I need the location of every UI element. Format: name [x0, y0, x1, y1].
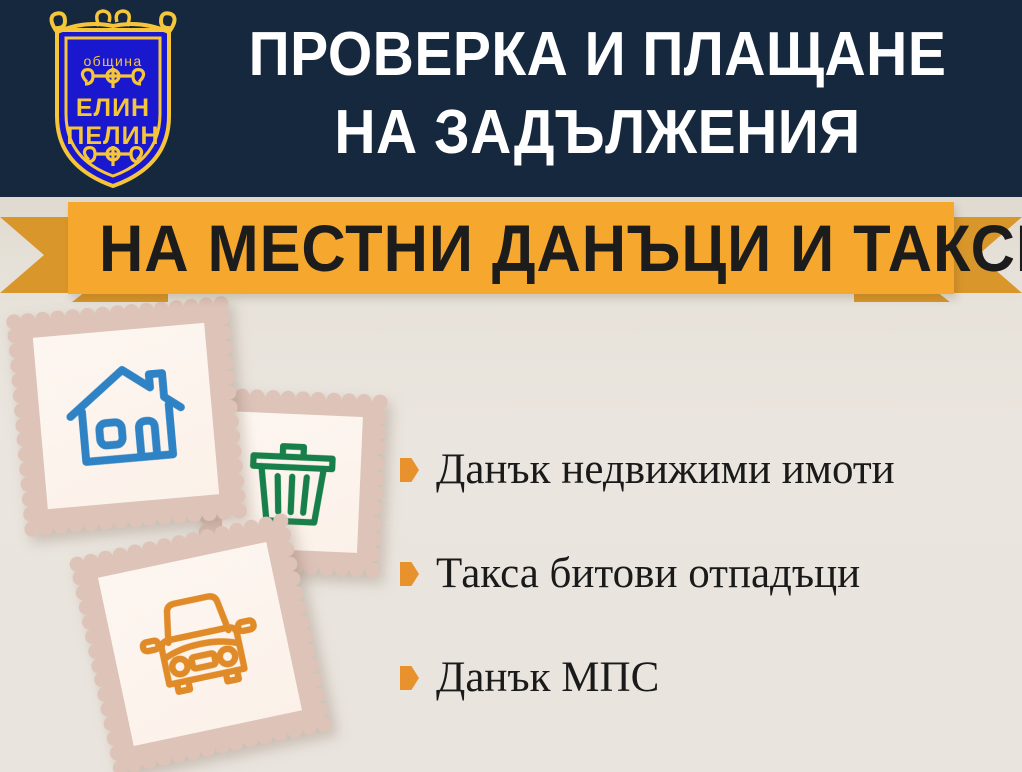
- header-bar: община ЕЛИН ПЕЛИН: [0, 0, 1022, 197]
- stamp-card-vehicle: [77, 521, 324, 768]
- coat-of-arms-shield-icon: община ЕЛИН ПЕЛИН: [33, 8, 193, 190]
- list-item[interactable]: Такса битови отпадъци: [400, 522, 1010, 626]
- poster-canvas: община ЕЛИН ПЕЛИН: [0, 0, 1022, 772]
- services-list: Данък недвижими имоти Такса битови отпад…: [400, 418, 1010, 730]
- stamp-card-property: [13, 303, 238, 528]
- ribbon-face: НА МЕСТНИ ДАНЪЦИ И ТАКСИ: [68, 202, 954, 294]
- title-line-1: ПРОВЕРКА И ПЛАЩАНЕ: [218, 16, 977, 94]
- trash-bin-icon: [238, 428, 346, 536]
- list-item-label: Данък недвижими имоти: [436, 446, 895, 494]
- arrow-bullet-icon: [400, 458, 419, 482]
- arrow-bullet-icon: [400, 666, 419, 690]
- list-item[interactable]: Данък недвижими имоти: [400, 418, 1010, 522]
- arrow-bullet-icon: [400, 562, 419, 586]
- list-item-label: Данък МПС: [436, 654, 659, 702]
- list-item[interactable]: Данък МПС: [400, 626, 1010, 730]
- house-icon: [54, 344, 197, 487]
- municipality-logo: община ЕЛИН ПЕЛИН: [33, 8, 193, 190]
- list-item-label: Такса битови отпадъци: [436, 550, 860, 598]
- ribbon-label: НА МЕСТНИ ДАНЪЦИ И ТАКСИ: [99, 202, 923, 294]
- page-title: ПРОВЕРКА И ПЛАЩАНЕ НА ЗАДЪЛЖЕНИЯ: [185, 16, 1010, 172]
- car-front-icon: [124, 568, 276, 720]
- title-line-2: НА ЗАДЪЛЖЕНИЯ: [218, 94, 977, 172]
- subtitle-ribbon: НА МЕСТНИ ДАНЪЦИ И ТАКСИ: [0, 196, 1022, 314]
- logo-name-line-2: ПЕЛИН: [66, 122, 159, 150]
- logo-community-label: община: [83, 53, 142, 69]
- logo-name-line-1: ЕЛИН: [76, 94, 150, 122]
